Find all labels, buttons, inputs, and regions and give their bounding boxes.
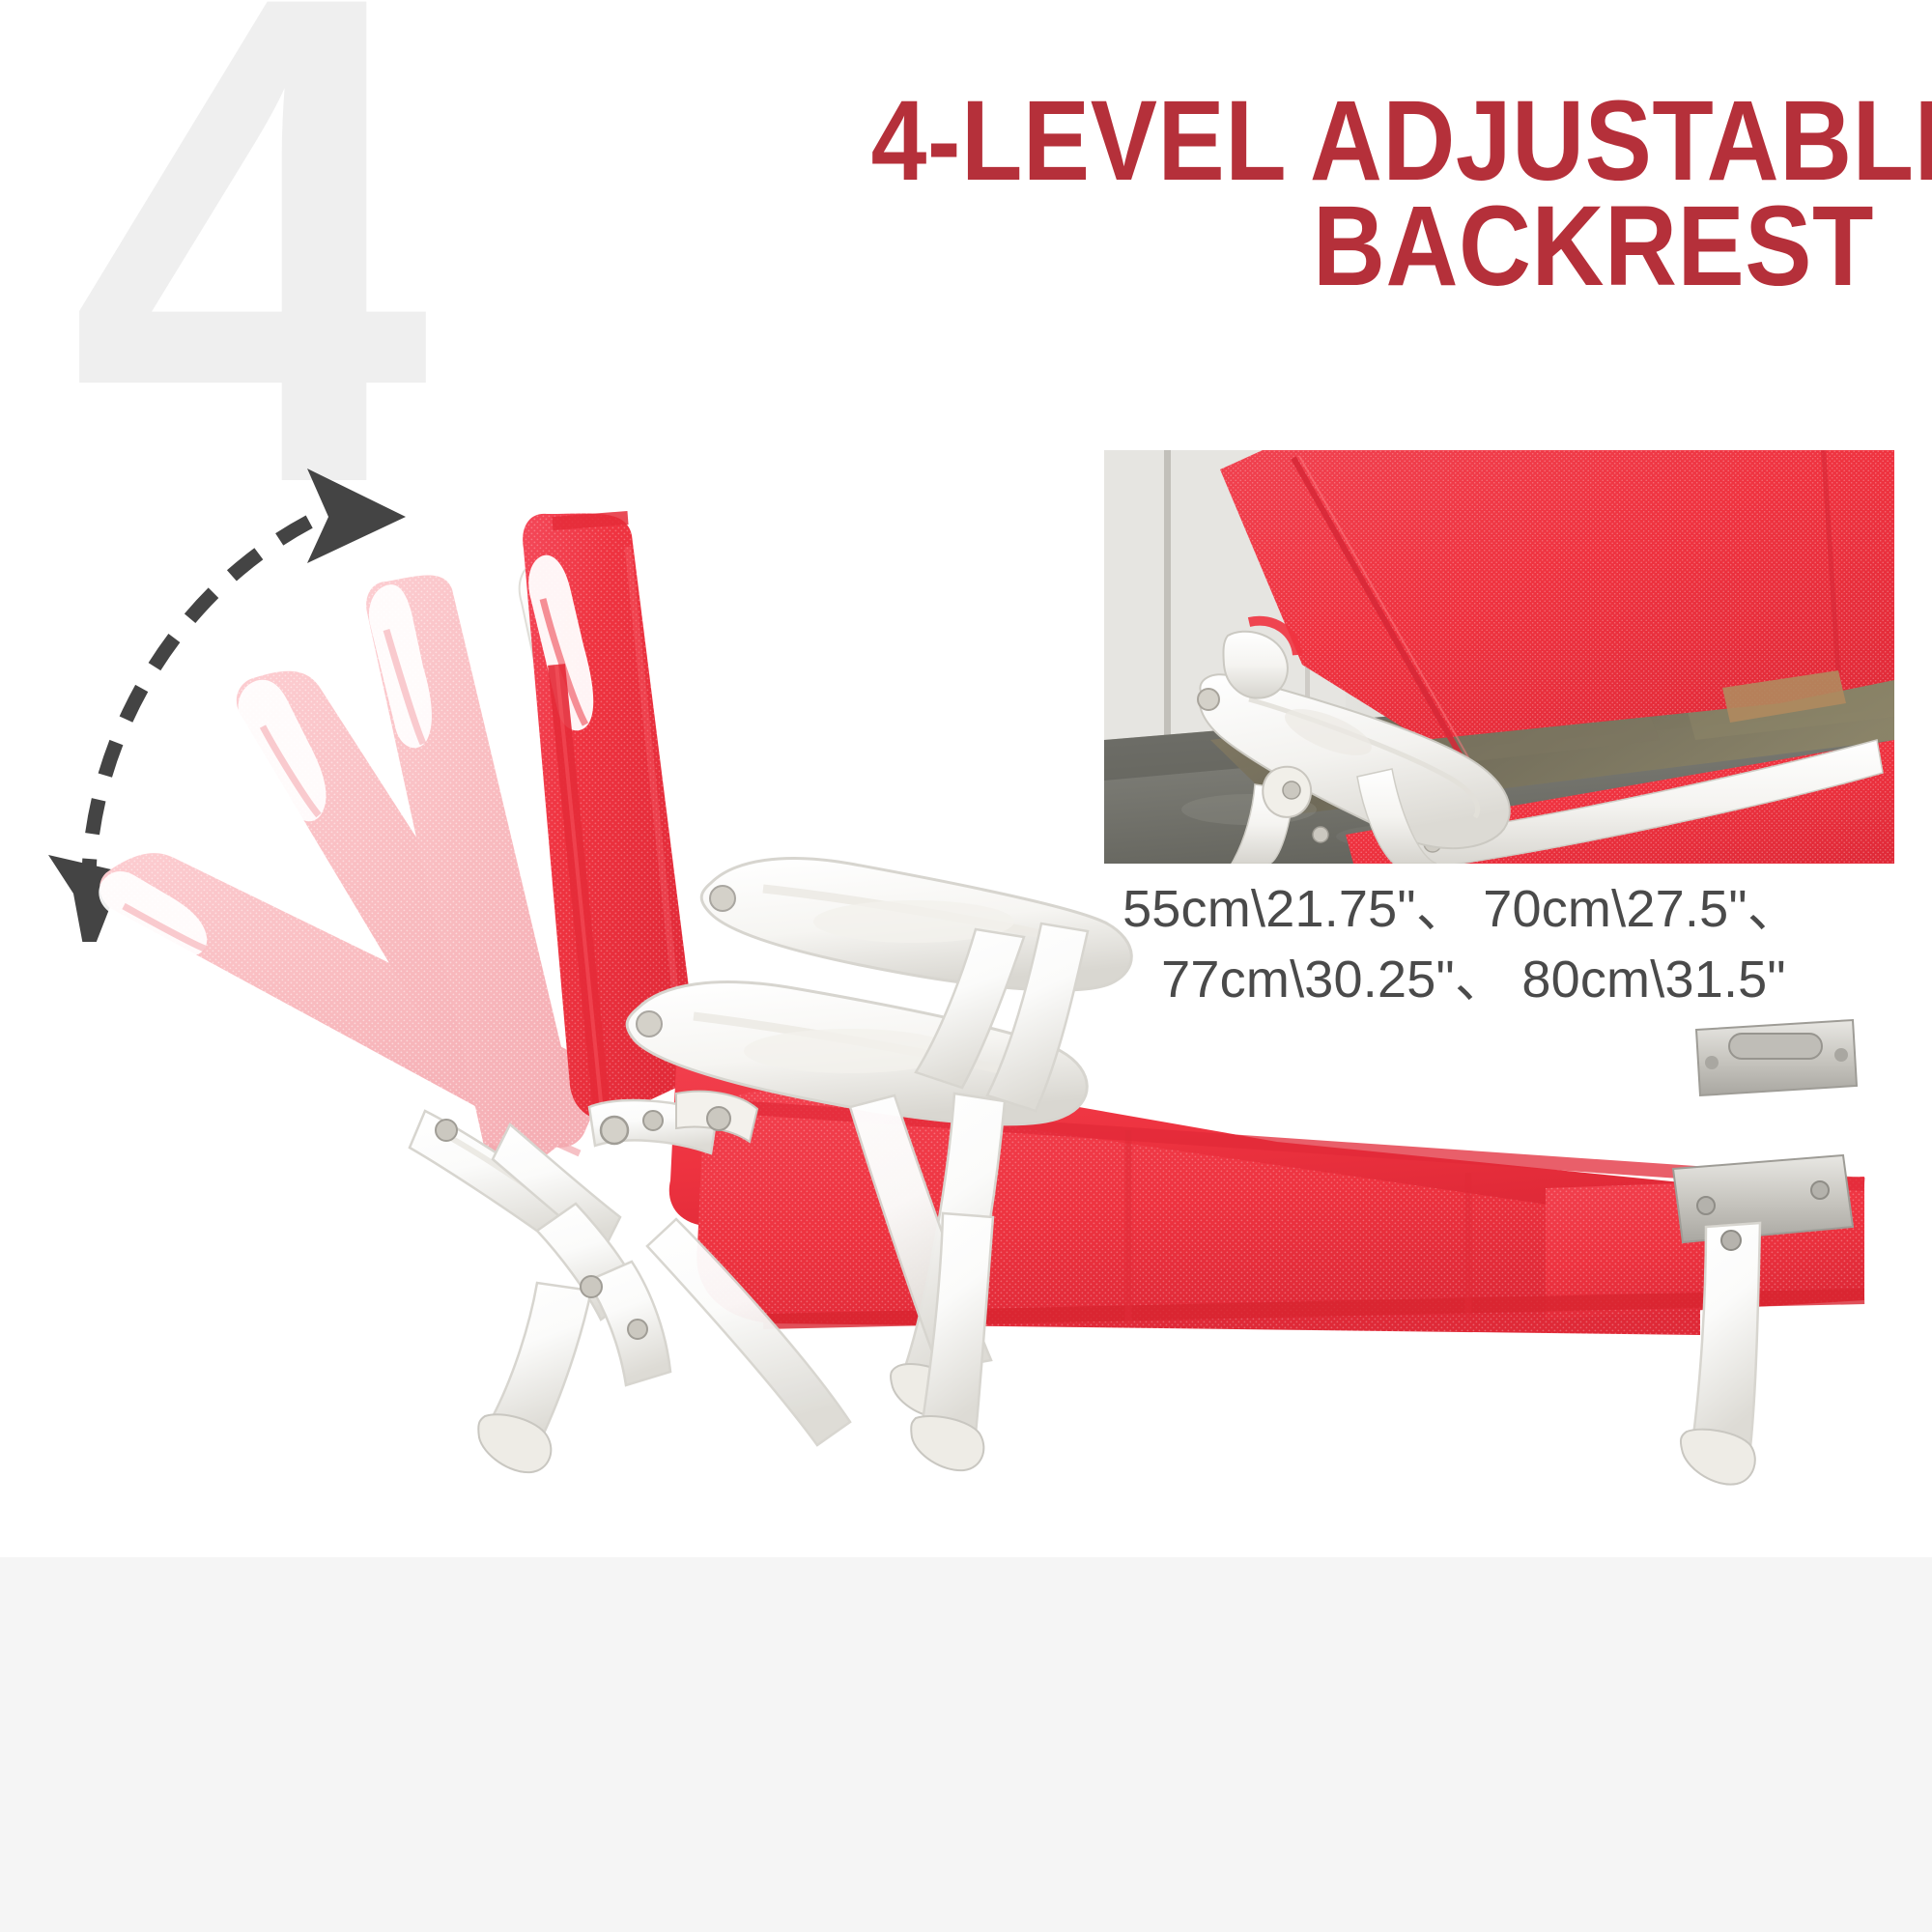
headline-line-1: 4-LEVEL ADJUSTABLE [871,89,1874,194]
page-title: 4-LEVEL ADJUSTABLE BACKREST [871,89,1874,298]
product-illustration [0,454,1932,1507]
bed-hinge-bracket-top [1696,1020,1857,1095]
background-band [0,1557,1932,1932]
backrest-pivot-joint [601,1117,628,1144]
headline-line-2: BACKREST [871,194,1874,299]
product-feature-graphic: 4 4-LEVEL ADJUSTABLE BACKREST [0,0,1932,1932]
bed-hinge-bracket-bottom [1673,1155,1853,1242]
front-folding-leg-left [478,1204,670,1472]
